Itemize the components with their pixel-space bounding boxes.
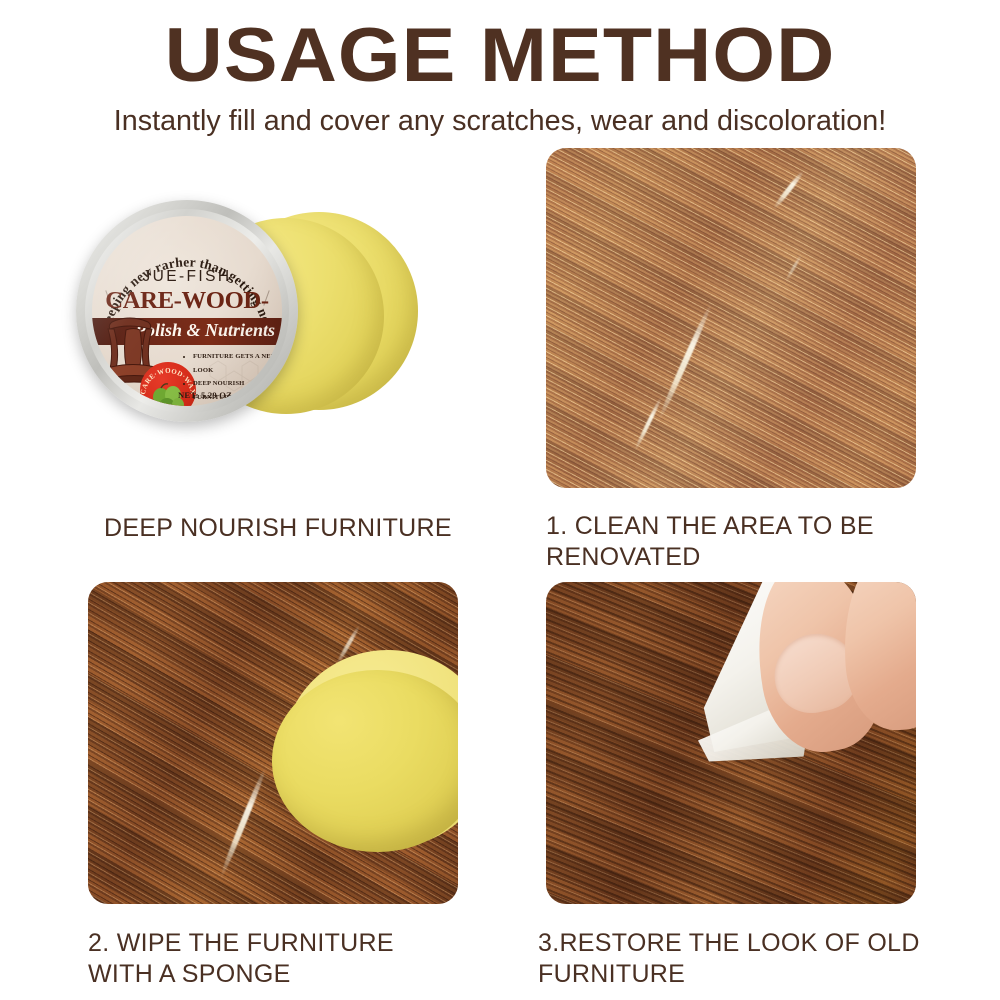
header: USAGE METHOD Instantly fill and cover an… [0, 0, 1000, 138]
page-subtitle: Instantly fill and cover any scratches, … [5, 98, 995, 138]
panel-clean-image [546, 148, 916, 488]
wood-texture [546, 148, 916, 488]
panel-product-caption: DEEP NOURISH FURNITURE [104, 513, 524, 544]
product-tin: Keeping new rarher than getting new JUE-… [76, 200, 298, 422]
panel-clean-caption: 1. CLEAN THE AREA TO BE RENOVATED [546, 511, 966, 573]
panel-restore-caption: 3.RESTORE THE LOOK OF OLD FURNITURE [538, 928, 978, 990]
panel-product-image: Keeping new rarher than getting new JUE-… [70, 190, 470, 490]
panel-restore-image [546, 582, 916, 904]
page-title: USAGE METHOD [0, 0, 1000, 98]
panel-wipe-image [88, 582, 458, 904]
hexagon-watermark [92, 216, 282, 406]
panel-wipe-caption: 2. WIPE THE FURNITURE WITH A SPONGE [88, 928, 508, 990]
tin-label: Keeping new rarher than getting new JUE-… [92, 216, 282, 406]
